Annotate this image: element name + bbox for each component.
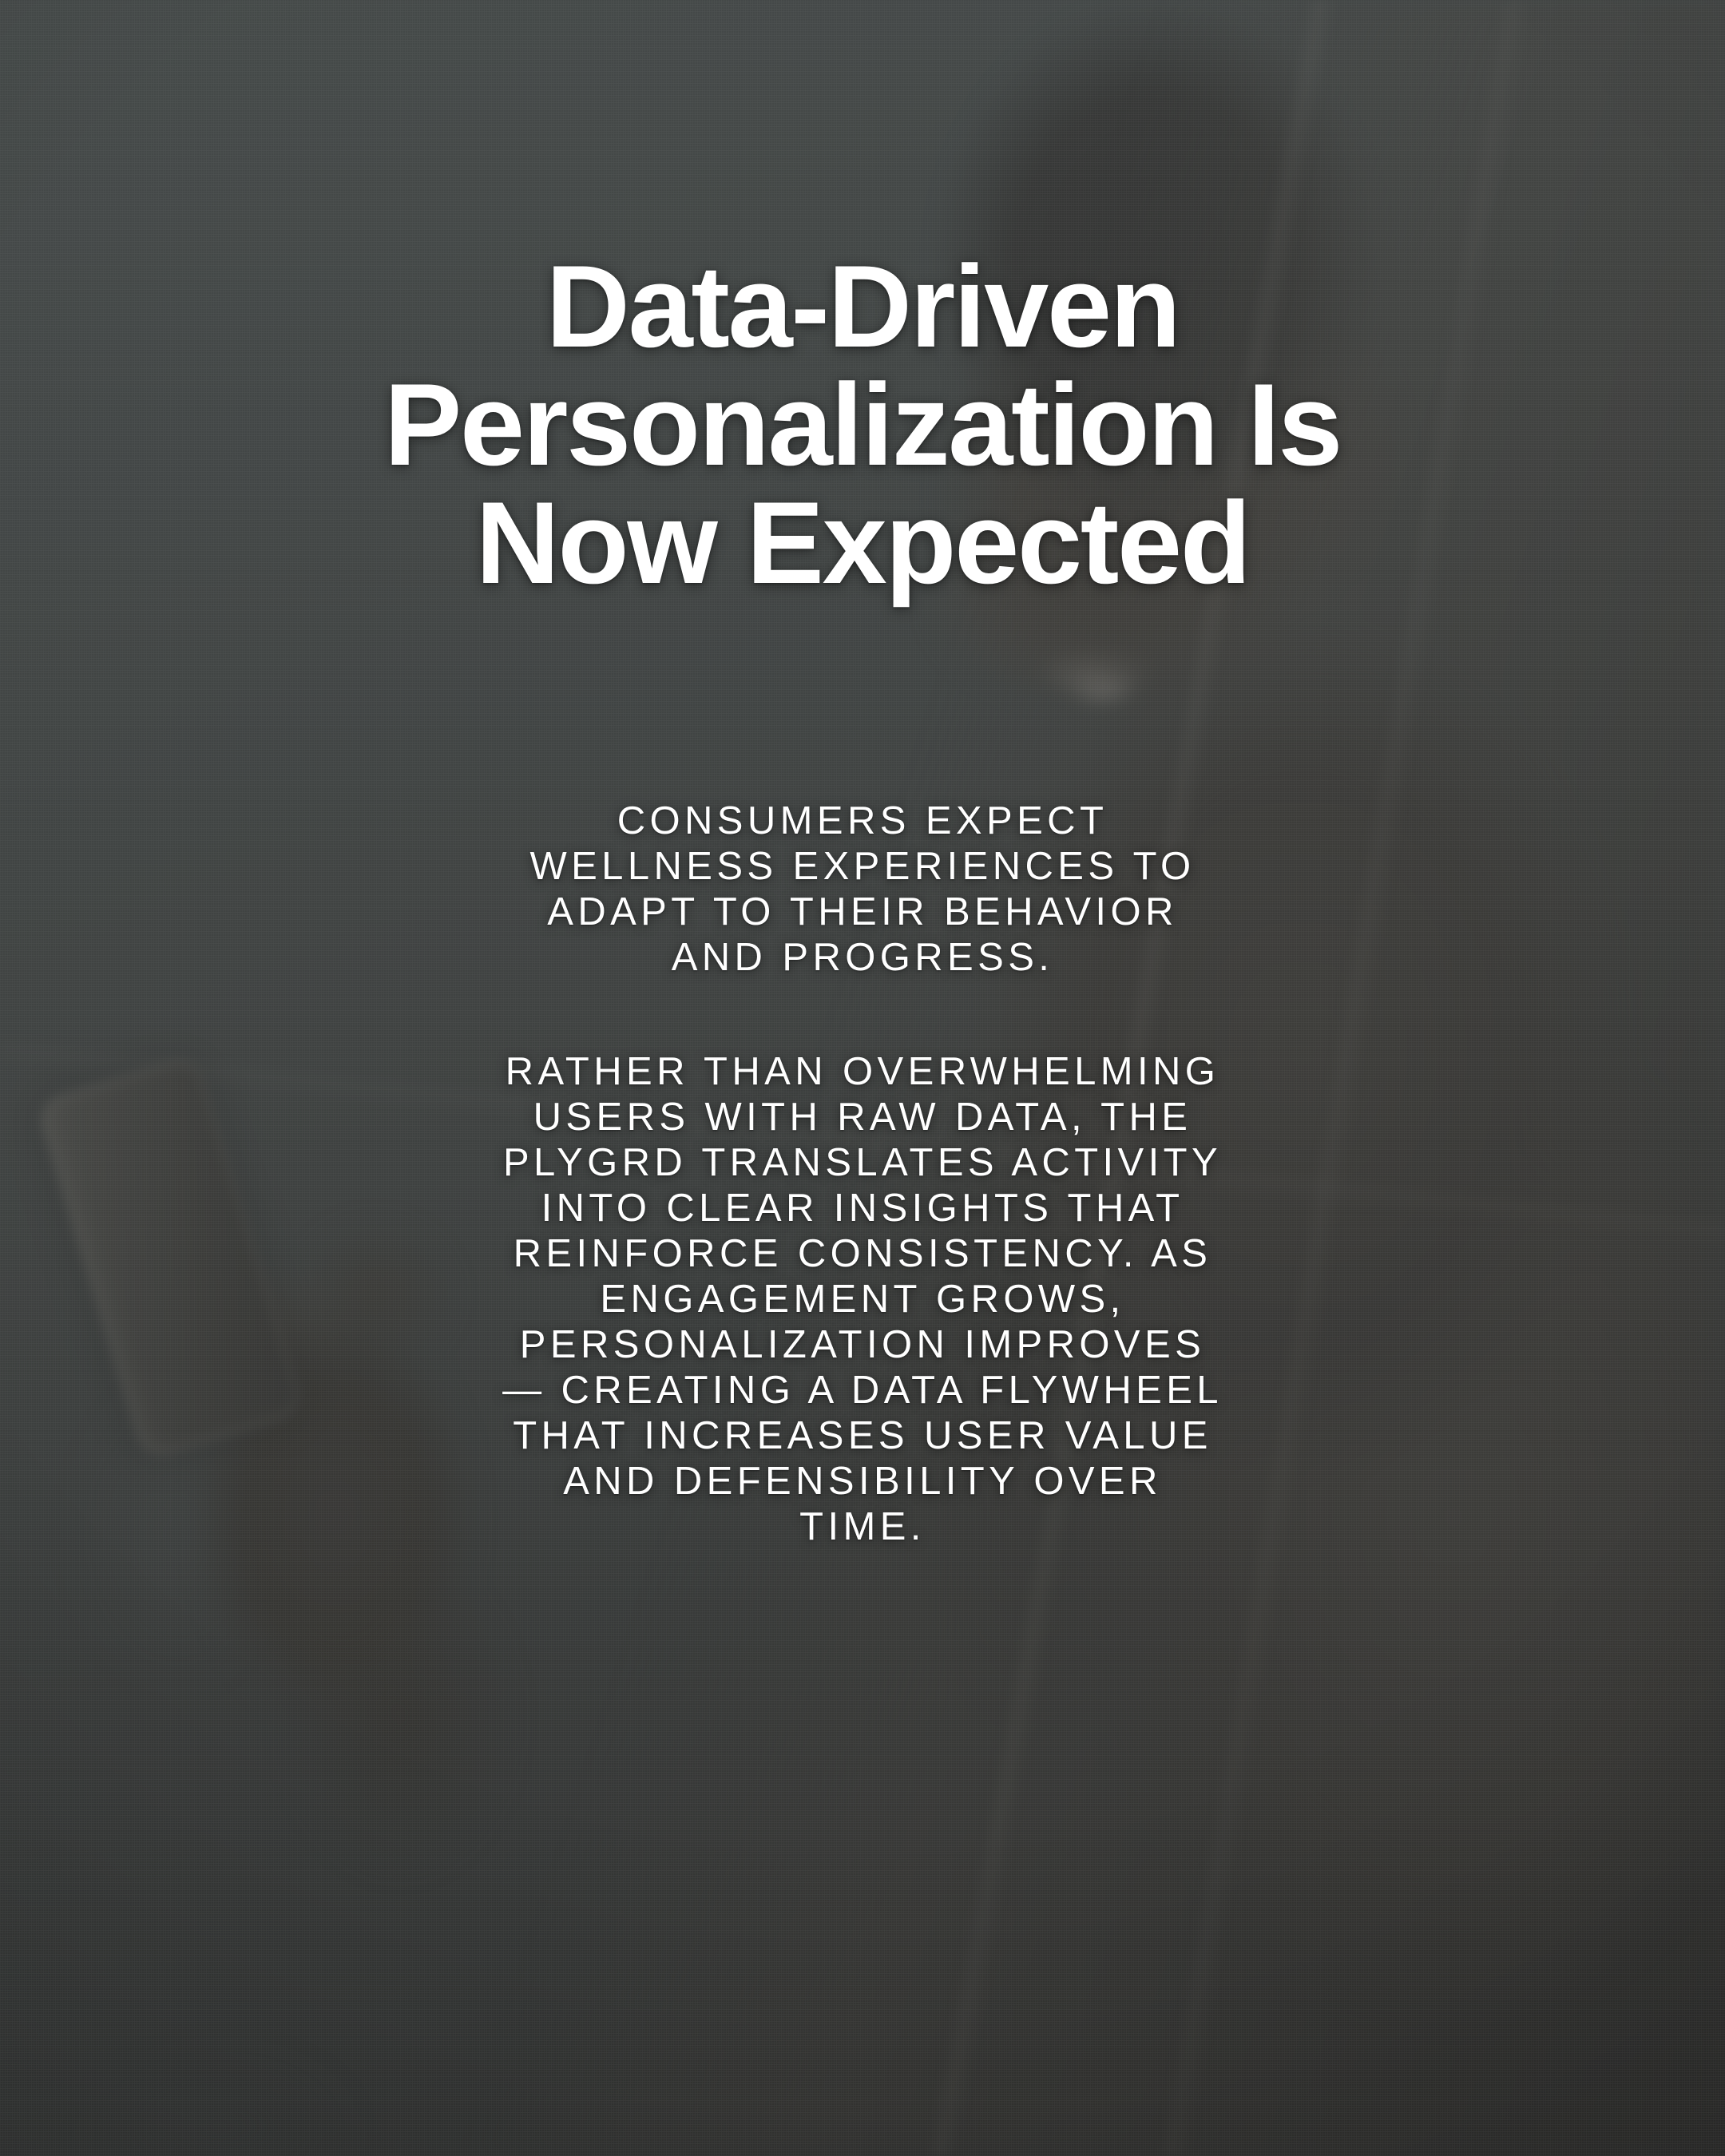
poster-slide: Data-Driven Personalization Is Now Expec… bbox=[0, 0, 1725, 2156]
body-paragraph-detail: RATHER THAN OVERWHELMING USERS WITH RAW … bbox=[240, 1049, 1485, 1550]
content-container: Data-Driven Personalization Is Now Expec… bbox=[0, 0, 1725, 2156]
body-paragraph-intro: CONSUMERS EXPECT WELLNESS EXPERIENCES TO… bbox=[240, 799, 1485, 981]
page-title: Data-Driven Personalization Is Now Expec… bbox=[0, 248, 1725, 602]
body-copy-block: CONSUMERS EXPECT WELLNESS EXPERIENCES TO… bbox=[240, 799, 1485, 1550]
paragraph-spacer bbox=[240, 981, 1485, 1049]
